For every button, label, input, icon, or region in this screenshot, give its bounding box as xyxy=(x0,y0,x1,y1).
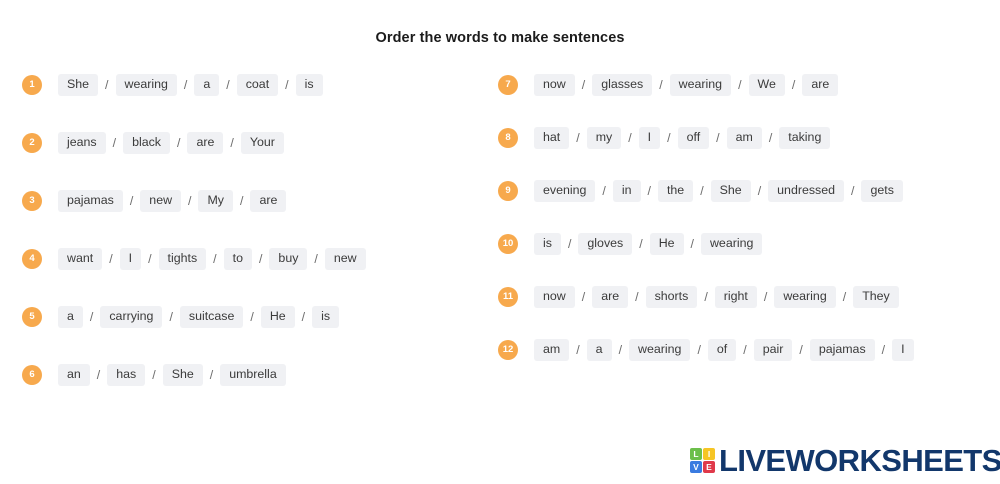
word-separator: / xyxy=(652,79,669,92)
word-separator: / xyxy=(844,185,861,198)
word-separator: / xyxy=(219,79,236,92)
word-chip[interactable]: My xyxy=(198,190,233,212)
logo-square-l: L xyxy=(690,448,702,460)
word-separator: / xyxy=(612,344,629,357)
word-separator: / xyxy=(709,132,726,145)
word-chip-list: a/carrying/suitcase/He/is xyxy=(58,306,339,328)
word-chip-list: hat/my/I/off/am/taking xyxy=(534,127,830,149)
word-separator: / xyxy=(757,291,774,304)
word-chip[interactable]: a xyxy=(194,74,219,96)
worksheet-page: Order the words to make sentences 1She/w… xyxy=(0,0,1000,484)
word-separator: / xyxy=(233,195,250,208)
word-separator: / xyxy=(792,344,809,357)
word-chip[interactable]: gets xyxy=(861,180,902,202)
word-chip-list: jeans/black/are/Your xyxy=(58,132,284,154)
word-separator: / xyxy=(575,79,592,92)
word-chip[interactable]: wearing xyxy=(116,74,177,96)
exercise-item: 10is/gloves/He/wearing xyxy=(498,233,968,255)
logo-square-v: V xyxy=(690,461,702,473)
word-separator: / xyxy=(206,253,223,266)
item-number-badge: 8 xyxy=(498,128,518,148)
word-chip-list: am/a/wearing/of/pair/pajamas/I xyxy=(534,339,914,361)
word-chip[interactable]: pajamas xyxy=(58,190,123,212)
word-separator: / xyxy=(177,79,194,92)
exercise-item: 8hat/my/I/off/am/taking xyxy=(498,127,968,149)
word-separator: / xyxy=(181,195,198,208)
word-separator: / xyxy=(90,369,107,382)
word-chip[interactable]: is xyxy=(296,74,323,96)
word-chip-list: She/wearing/a/coat/is xyxy=(58,74,323,96)
word-chip[interactable]: jeans xyxy=(58,132,106,154)
item-number-badge: 3 xyxy=(22,191,42,211)
word-chip[interactable]: are xyxy=(187,132,223,154)
word-chip[interactable]: We xyxy=(749,74,785,96)
word-chip[interactable]: wearing xyxy=(774,286,835,308)
word-chip[interactable]: She xyxy=(711,180,751,202)
word-chip[interactable]: undressed xyxy=(768,180,844,202)
word-separator: / xyxy=(102,253,119,266)
word-chip[interactable]: wearing xyxy=(701,233,762,255)
word-chip[interactable]: buy xyxy=(269,248,307,270)
word-separator: / xyxy=(690,344,707,357)
exercise-item: 5a/carrying/suitcase/He/is xyxy=(22,306,472,328)
word-chip[interactable]: my xyxy=(587,127,622,149)
word-chip[interactable]: are xyxy=(250,190,286,212)
word-separator: / xyxy=(252,253,269,266)
word-chip[interactable]: are xyxy=(592,286,628,308)
word-chip[interactable]: an xyxy=(58,364,90,386)
word-chip[interactable]: shorts xyxy=(646,286,698,308)
word-separator: / xyxy=(697,291,714,304)
word-separator: / xyxy=(731,79,748,92)
exercise-item: 3pajamas/new/My/are xyxy=(22,190,472,212)
word-chip[interactable]: to xyxy=(224,248,252,270)
word-chip[interactable]: am xyxy=(727,127,762,149)
word-chip[interactable]: hat xyxy=(534,127,569,149)
word-chip[interactable]: has xyxy=(107,364,145,386)
word-separator: / xyxy=(628,291,645,304)
word-separator: / xyxy=(836,291,853,304)
exercise-item: 9evening/in/the/She/undressed/gets xyxy=(498,180,968,202)
word-separator: / xyxy=(295,311,312,324)
item-number-badge: 9 xyxy=(498,181,518,201)
item-number-badge: 4 xyxy=(22,249,42,269)
word-chip[interactable]: am xyxy=(534,339,569,361)
word-separator: / xyxy=(785,79,802,92)
word-chip[interactable]: suitcase xyxy=(180,306,243,328)
word-chip[interactable]: Your xyxy=(241,132,284,154)
word-separator: / xyxy=(693,185,710,198)
word-separator: / xyxy=(569,344,586,357)
liveworksheets-logo: LIVE LIVEWORKSHEETS xyxy=(690,445,1000,476)
word-chip[interactable]: are xyxy=(802,74,838,96)
liveworksheets-wordmark: LIVEWORKSHEETS xyxy=(719,445,1000,476)
liveworksheets-logo-icon: LIVE xyxy=(690,448,715,473)
word-chip[interactable]: now xyxy=(534,286,575,308)
word-chip-list: now/glasses/wearing/We/are xyxy=(534,74,838,96)
word-chip[interactable]: glasses xyxy=(592,74,652,96)
word-separator: / xyxy=(736,344,753,357)
word-separator: / xyxy=(106,137,123,150)
word-separator: / xyxy=(243,311,260,324)
item-number-badge: 12 xyxy=(498,340,518,360)
word-separator: / xyxy=(762,132,779,145)
word-chip[interactable]: I xyxy=(639,127,660,149)
word-chip[interactable]: new xyxy=(325,248,366,270)
word-separator: / xyxy=(660,132,677,145)
item-number-badge: 1 xyxy=(22,75,42,95)
word-chip[interactable]: is xyxy=(312,306,339,328)
word-separator: / xyxy=(684,238,701,251)
word-separator: / xyxy=(575,291,592,304)
exercise-column-left: 1She/wearing/a/coat/is2jeans/black/are/Y… xyxy=(22,74,472,422)
word-chip[interactable]: now xyxy=(534,74,575,96)
word-chip[interactable]: gloves xyxy=(578,233,632,255)
word-separator: / xyxy=(223,137,240,150)
word-chip[interactable]: wearing xyxy=(670,74,731,96)
word-separator: / xyxy=(632,238,649,251)
exercise-item: 11now/are/shorts/right/wearing/They xyxy=(498,286,968,308)
word-chip[interactable]: wearing xyxy=(629,339,690,361)
word-chip-list: evening/in/the/She/undressed/gets xyxy=(534,180,903,202)
exercise-item: 4want/I/tights/to/buy/new xyxy=(22,248,472,270)
word-chip[interactable]: pair xyxy=(754,339,793,361)
word-chip[interactable]: I xyxy=(892,339,913,361)
word-separator: / xyxy=(83,311,100,324)
word-separator: / xyxy=(595,185,612,198)
word-separator: / xyxy=(141,253,158,266)
word-separator: / xyxy=(278,79,295,92)
word-chip[interactable]: I xyxy=(120,248,141,270)
word-chip[interactable]: is xyxy=(534,233,561,255)
exercise-item: 7now/glasses/wearing/We/are xyxy=(498,74,968,96)
item-number-badge: 7 xyxy=(498,75,518,95)
word-separator: / xyxy=(875,344,892,357)
word-separator: / xyxy=(569,132,586,145)
item-number-badge: 6 xyxy=(22,365,42,385)
word-chip[interactable]: coat xyxy=(237,74,278,96)
item-number-badge: 11 xyxy=(498,287,518,307)
word-chip[interactable]: tights xyxy=(159,248,207,270)
item-number-badge: 2 xyxy=(22,133,42,153)
word-chip[interactable]: pajamas xyxy=(810,339,875,361)
word-chip[interactable]: off xyxy=(678,127,710,149)
word-separator: / xyxy=(98,79,115,92)
item-number-badge: 5 xyxy=(22,307,42,327)
word-chip[interactable]: He xyxy=(261,306,295,328)
word-chip[interactable]: want xyxy=(58,248,102,270)
word-chip[interactable]: She xyxy=(163,364,203,386)
word-separator: / xyxy=(641,185,658,198)
word-chip[interactable]: right xyxy=(715,286,757,308)
page-title: Order the words to make sentences xyxy=(0,30,1000,46)
word-chip-list: now/are/shorts/right/wearing/They xyxy=(534,286,899,308)
word-chip[interactable]: evening xyxy=(534,180,595,202)
word-chip[interactable]: a xyxy=(587,339,612,361)
exercise-item: 6an/has/She/umbrella xyxy=(22,364,472,386)
exercise-column-right: 7now/glasses/wearing/We/are8hat/my/I/off… xyxy=(498,74,968,392)
word-chip[interactable]: umbrella xyxy=(220,364,286,386)
logo-square-e: E xyxy=(703,461,715,473)
word-separator: / xyxy=(307,253,324,266)
word-chip[interactable]: taking xyxy=(779,127,830,149)
word-chip-list: want/I/tights/to/buy/new xyxy=(58,248,366,270)
exercise-item: 2jeans/black/are/Your xyxy=(22,132,472,154)
word-separator: / xyxy=(203,369,220,382)
word-chip-list: an/has/She/umbrella xyxy=(58,364,286,386)
word-chip[interactable]: of xyxy=(708,339,736,361)
word-chip[interactable]: black xyxy=(123,132,170,154)
word-separator: / xyxy=(162,311,179,324)
exercise-item: 1She/wearing/a/coat/is xyxy=(22,74,472,96)
word-chip[interactable]: the xyxy=(658,180,693,202)
word-separator: / xyxy=(561,238,578,251)
exercise-item: 12am/a/wearing/of/pair/pajamas/I xyxy=(498,339,968,361)
word-separator: / xyxy=(751,185,768,198)
word-separator: / xyxy=(170,137,187,150)
word-chip-list: is/gloves/He/wearing xyxy=(534,233,762,255)
word-chip[interactable]: in xyxy=(613,180,641,202)
logo-square-i: I xyxy=(703,448,715,460)
item-number-badge: 10 xyxy=(498,234,518,254)
word-chip[interactable]: a xyxy=(58,306,83,328)
word-chip-list: pajamas/new/My/are xyxy=(58,190,286,212)
word-chip[interactable]: carrying xyxy=(100,306,162,328)
word-chip[interactable]: She xyxy=(58,74,98,96)
word-chip[interactable]: He xyxy=(650,233,684,255)
word-chip[interactable]: They xyxy=(853,286,899,308)
word-separator: / xyxy=(123,195,140,208)
word-chip[interactable]: new xyxy=(140,190,181,212)
word-separator: / xyxy=(145,369,162,382)
word-separator: / xyxy=(621,132,638,145)
